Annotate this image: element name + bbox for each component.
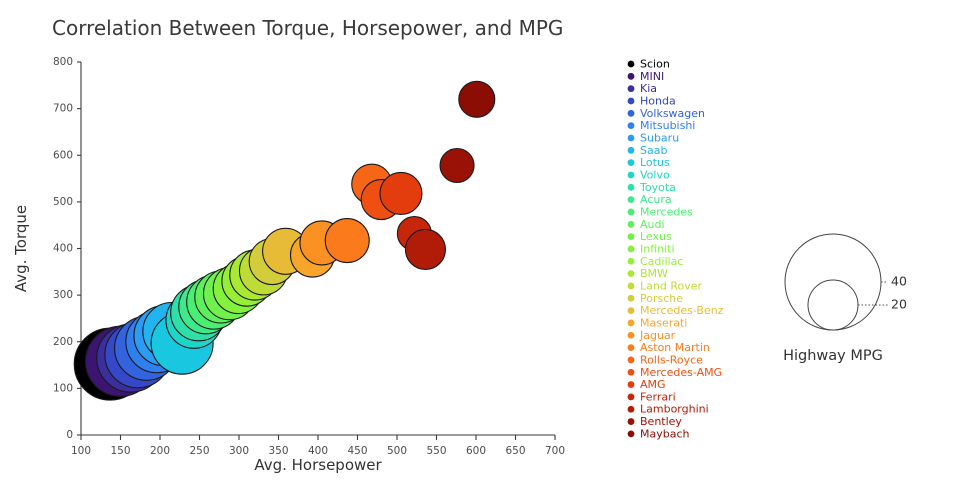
legend-label-mitsubishi[interactable]: Mitsubishi: [640, 119, 695, 132]
legend-label-maybach[interactable]: Maybach: [640, 427, 690, 440]
y-tick-label: 600: [53, 149, 73, 161]
legend-marker-amg[interactable]: [628, 381, 635, 388]
legend-marker-honda[interactable]: [628, 98, 635, 105]
bubble-bentley[interactable]: Bentley: 576 hp, 578 lb-ft: [440, 149, 474, 183]
legend-marker-mercedes[interactable]: [628, 209, 635, 216]
legend-marker-acura[interactable]: [628, 196, 635, 203]
legend-label-jaguar[interactable]: Jaguar: [639, 329, 676, 342]
size-legend-value-40: 40: [891, 274, 907, 289]
legend-marker-bmw[interactable]: [628, 270, 635, 277]
x-tick-label: 600: [466, 445, 486, 457]
legend-label-audi[interactable]: Audi: [640, 218, 665, 231]
bubble-group: Scion: 137 hp, 152 lb-ftMINI: 150 hp, 15…: [74, 81, 495, 400]
x-tick-label: 150: [110, 445, 130, 457]
legend-marker-lotus[interactable]: [628, 159, 635, 166]
legend-label-bentley[interactable]: Bentley: [640, 415, 682, 428]
legend-label-subaru[interactable]: Subaru: [640, 131, 679, 144]
x-tick-label: 300: [229, 445, 249, 457]
legend-label-aston-martin[interactable]: Aston Martin: [640, 341, 710, 354]
legend-label-toyota[interactable]: Toyota: [639, 181, 676, 194]
legend-marker-maybach[interactable]: [628, 431, 635, 438]
legend-marker-aston-martin[interactable]: [628, 344, 635, 351]
legend-marker-mini[interactable]: [628, 73, 635, 80]
legend-label-infiniti[interactable]: Infiniti: [640, 242, 675, 255]
legend-marker-lexus[interactable]: [628, 233, 635, 240]
bubble-maybach[interactable]: Maybach: 601 hp, 720 lb-ft: [459, 81, 495, 117]
legend-label-cadillac[interactable]: Cadillac: [640, 255, 683, 268]
legend-marker-mitsubishi[interactable]: [628, 122, 635, 129]
legend-marker-subaru[interactable]: [628, 135, 635, 142]
legend-label-mercedes-amg[interactable]: Mercedes-AMG: [640, 366, 722, 379]
legend-label-amg[interactable]: AMG: [640, 378, 666, 391]
legend-marker-kia[interactable]: [628, 85, 635, 92]
legend-label-lamborghini[interactable]: Lamborghini: [640, 403, 709, 416]
legend-label-volvo[interactable]: Volvo: [640, 168, 670, 181]
y-tick-label: 400: [53, 243, 73, 255]
legend-label-land-rover[interactable]: Land Rover: [640, 279, 702, 292]
legend-marker-maserati[interactable]: [628, 320, 635, 327]
brand-legend: ScionMINIKiaHondaVolkswagenMitsubishiSub…: [628, 58, 724, 441]
x-tick-label: 500: [387, 445, 407, 457]
legend-marker-volvo[interactable]: [628, 172, 635, 179]
legend-label-acura[interactable]: Acura: [640, 193, 672, 206]
legend-marker-mercedes-amg[interactable]: [628, 369, 635, 376]
legend-marker-scion[interactable]: [628, 61, 635, 68]
size-legend-value-20: 20: [891, 297, 907, 312]
legend-label-lotus[interactable]: Lotus: [640, 156, 670, 169]
legend-label-saab[interactable]: Saab: [640, 144, 667, 157]
size-legend: 4020Highway MPG: [783, 234, 907, 364]
legend-marker-volkswagen[interactable]: [628, 110, 635, 117]
legend-marker-mercedes-benz[interactable]: [628, 307, 635, 314]
bubble-aston-martin[interactable]: Aston Martin: 437 hp, 417 lb-ft: [325, 219, 369, 263]
legend-marker-lamborghini[interactable]: [628, 406, 635, 413]
legend-marker-rolls-royce[interactable]: [628, 357, 635, 364]
legend-label-rolls-royce[interactable]: Rolls-Royce: [640, 353, 703, 366]
legend-label-bmw[interactable]: BMW: [640, 267, 668, 280]
size-legend-circle-40: [785, 234, 881, 330]
x-tick-label: 650: [505, 445, 525, 457]
x-tick-label: 200: [150, 445, 170, 457]
legend-label-kia[interactable]: Kia: [640, 82, 657, 95]
legend-label-honda[interactable]: Honda: [640, 94, 676, 107]
legend-marker-porsche[interactable]: [628, 295, 635, 302]
legend-label-ferrari[interactable]: Ferrari: [640, 390, 676, 403]
legend-label-mercedes-benz[interactable]: Mercedes-Benz: [640, 304, 724, 317]
legend-label-volkswagen[interactable]: Volkswagen: [640, 107, 705, 120]
bubble-amg[interactable]: AMG: 505 hp, 518 lb-ft: [380, 172, 422, 214]
legend-label-scion[interactable]: Scion: [640, 58, 670, 71]
size-legend-title: Highway MPG: [783, 348, 883, 364]
legend-label-mercedes[interactable]: Mercedes: [640, 205, 693, 218]
legend-label-lexus[interactable]: Lexus: [640, 230, 672, 243]
x-axis-title: Avg. Horsepower: [254, 456, 382, 474]
x-tick-label: 250: [189, 445, 209, 457]
legend-marker-infiniti[interactable]: [628, 246, 635, 253]
y-tick-label: 0: [66, 429, 73, 441]
size-legend-circle-20: [808, 280, 858, 330]
legend-marker-land-rover[interactable]: [628, 283, 635, 290]
legend-marker-jaguar[interactable]: [628, 332, 635, 339]
legend-label-maserati[interactable]: Maserati: [640, 316, 687, 329]
legend-label-porsche[interactable]: Porsche: [640, 292, 683, 305]
y-tick-label: 100: [53, 382, 73, 394]
legend-marker-ferrari[interactable]: [628, 394, 635, 401]
x-tick-label: 700: [545, 445, 565, 457]
y-axis-title: Avg. Torque: [12, 205, 30, 292]
x-tick-label: 550: [426, 445, 446, 457]
y-tick-label: 200: [53, 336, 73, 348]
legend-marker-audi[interactable]: [628, 221, 635, 228]
y-tick-label: 700: [53, 103, 73, 115]
y-tick-label: 500: [53, 196, 73, 208]
legend-marker-cadillac[interactable]: [628, 258, 635, 265]
legend-marker-bentley[interactable]: [628, 418, 635, 425]
scatter-plot-canvas: 0100200300400500600700800100150200250300…: [0, 0, 960, 500]
legend-marker-toyota[interactable]: [628, 184, 635, 191]
legend-label-mini[interactable]: MINI: [640, 70, 664, 83]
y-tick-label: 300: [53, 289, 73, 301]
bubble-lamborghini[interactable]: Lamborghini: 536 hp, 398 lb-ft: [405, 229, 445, 269]
x-tick-label: 100: [71, 445, 91, 457]
y-tick-label: 800: [53, 56, 73, 68]
legend-marker-saab[interactable]: [628, 147, 635, 154]
